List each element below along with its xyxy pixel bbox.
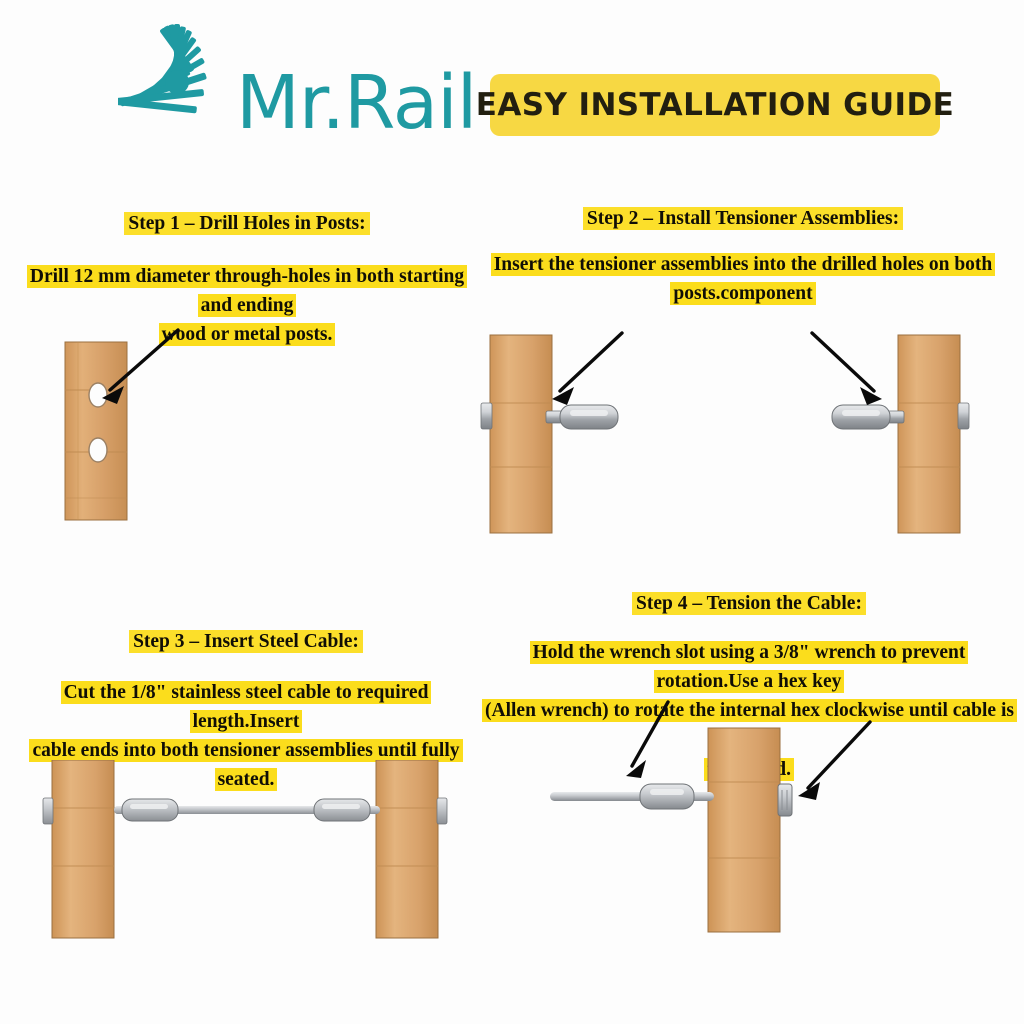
guide-title-banner: EASY INSTALLATION GUIDE (490, 74, 940, 136)
step-2-body: Insert the tensioner assemblies into the… (470, 250, 1016, 309)
installation-guide-page: Mr.Rail EASY INSTALLATION GUIDE Step 1 –… (0, 0, 1024, 1024)
step-2-figure-left (470, 325, 670, 555)
callout-arrow-end-fitting (798, 722, 870, 800)
brand-wordmark: Mr.Rail (236, 66, 476, 140)
end-fitting-wrench-slot (778, 784, 792, 816)
wood-post (490, 335, 552, 533)
drilled-hole-upper (89, 383, 107, 407)
step-4-figure (540, 700, 880, 960)
fan-rays-logo-icon (118, 22, 238, 167)
wood-post (65, 342, 127, 520)
tensioner-body-right (314, 799, 370, 821)
step-1-heading: Step 1 – Drill Holes in Posts: (12, 210, 482, 238)
tensioner-body-left (122, 799, 178, 821)
step-2-block: Step 2 – Install Tensioner Assemblies: I… (470, 205, 1016, 308)
callout-arrow-tensioner (812, 333, 882, 405)
drilled-hole-lower (89, 438, 107, 462)
wood-post-left (52, 760, 114, 938)
end-fitting-left (43, 798, 53, 824)
guide-title-text: EASY INSTALLATION GUIDE (476, 87, 954, 123)
page-header: Mr.Rail EASY INSTALLATION GUIDE (0, 0, 1024, 185)
callout-arrow-tensioner (626, 702, 668, 778)
wood-post-right (376, 760, 438, 938)
step-2-figure-right (780, 325, 980, 555)
step-3-figure (30, 760, 480, 960)
step-2-heading: Step 2 – Install Tensioner Assemblies: (470, 205, 1016, 233)
step-1-figure (40, 320, 300, 560)
step-4-heading: Step 4 – Tension the Cable: (482, 590, 1016, 618)
brand-logo: Mr.Rail (118, 22, 488, 172)
end-fitting-right (437, 798, 447, 824)
tensioner-body (640, 784, 694, 809)
step-3-heading: Step 3 – Insert Steel Cable: (16, 628, 476, 656)
wood-post (708, 728, 780, 932)
wood-post (898, 335, 960, 533)
callout-arrow-tensioner (552, 333, 622, 405)
